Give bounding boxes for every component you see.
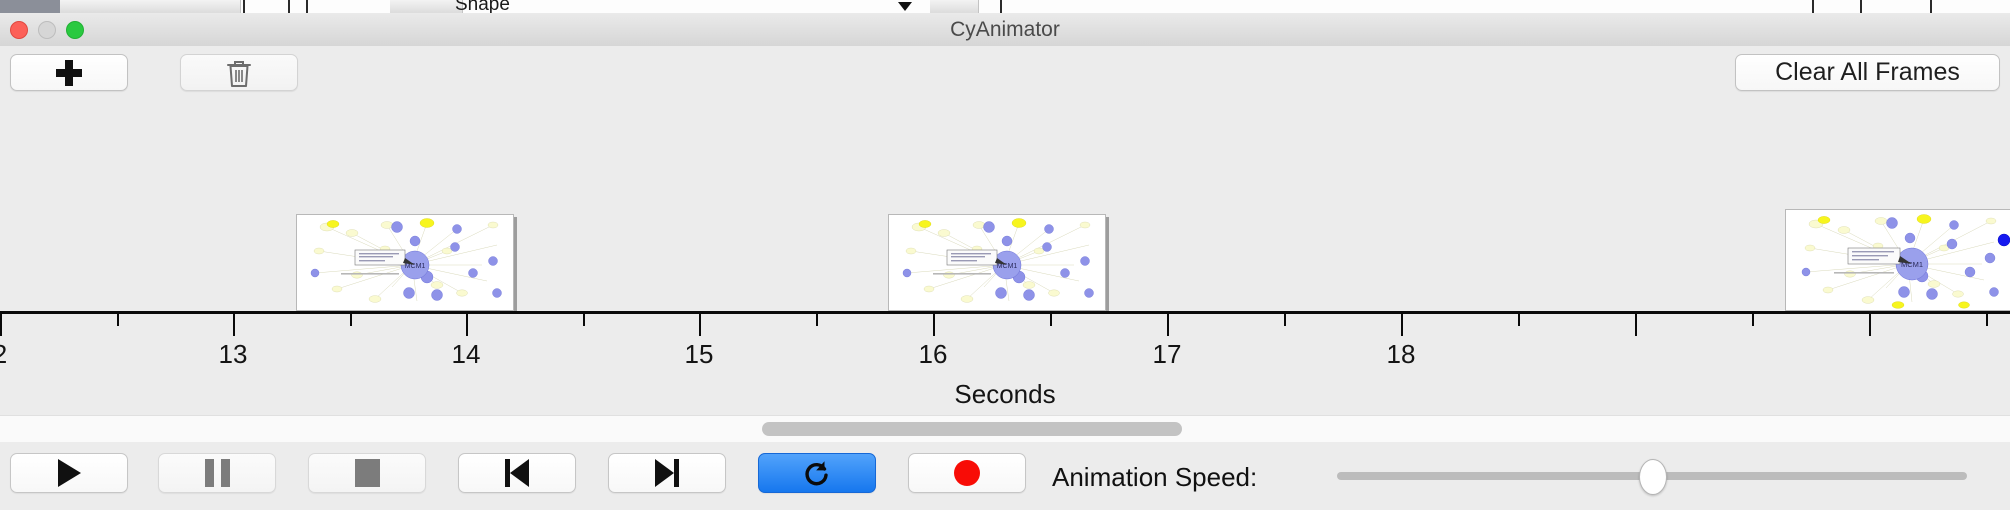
axis-tick [1869,314,1871,336]
axis-tick-label: 16 [919,339,948,370]
axis-tick-label: 13 [219,339,248,370]
axis-tick [1284,314,1286,326]
timeline-scrollbar-thumb[interactable] [762,422,1182,436]
frame-thumbnail-image: MCM1 [1785,209,2010,311]
cyanimator-window: Shape CyAnimator Clear All Frames [0,0,2010,510]
background-window-tick [243,0,245,13]
axis-tick [816,314,818,326]
loop-icon [802,458,832,488]
trash-icon [225,57,253,89]
axis-tick-label: 18 [1387,339,1416,370]
slider-thumb[interactable] [1639,459,1667,495]
background-window-segment [930,0,979,13]
axis-title: Seconds [0,379,2010,410]
axis-tick [233,314,235,336]
network-graph-preview: MCM1 [889,215,1105,310]
stop-button[interactable] [308,453,426,493]
skip-back-icon [505,459,529,487]
axis-tick [1518,314,1520,326]
background-window-tick [1812,0,1814,13]
background-window-segment [60,0,151,13]
previous-frame-button[interactable] [458,453,576,493]
frame-thumbnail[interactable]: MCM1 [296,214,514,311]
axis-tick [1986,314,1988,326]
record-icon [954,460,980,486]
clear-all-frames-label: Clear All Frames [1775,58,1960,87]
background-window-tick [288,0,290,13]
axis-tick [583,314,585,326]
play-icon [58,459,81,487]
pause-button[interactable] [158,453,276,493]
network-graph-preview: MCM1 [1786,210,2010,310]
timeline-scrollbar[interactable] [0,415,2010,443]
clear-all-frames-button[interactable]: Clear All Frames [1735,54,2000,91]
network-graph-preview: MCM1 [297,215,513,310]
axis-tick [933,314,935,336]
frames-toolbar: Clear All Frames [0,46,2010,99]
play-button[interactable] [10,453,128,493]
window-title: CyAnimator [0,13,2010,46]
background-window-segment [390,0,463,13]
background-window-label: Shape [455,0,510,14]
background-window-tick [306,0,308,13]
background-window-strip: Shape [0,0,2010,14]
axis-tick-label: 17 [1153,339,1182,370]
skip-forward-icon [655,459,679,487]
axis-tick [350,314,352,326]
loop-button[interactable] [758,453,876,493]
animation-speed-label: Animation Speed: [1052,462,1257,493]
plus-icon [56,60,82,86]
background-window-sidebar [0,0,60,13]
timeline-axis[interactable]: 2131415161718 Seconds [0,311,2010,415]
frame-thumbnail-image: MCM1 [296,214,514,311]
playback-control-bar: Animation Speed: [0,442,2010,510]
background-window-segment [190,0,241,13]
axis-tick [1635,314,1637,336]
next-frame-button[interactable] [608,453,726,493]
add-frame-button[interactable] [10,54,128,91]
pause-icon [205,459,230,487]
frame-thumbnail-image: MCM1 [888,214,1106,311]
frames-panel[interactable]: MCM1 [0,98,2010,311]
axis-tick [0,314,2,336]
axis-line [0,311,2010,314]
axis-tick [1752,314,1754,326]
delete-frame-button[interactable] [180,54,298,91]
svg-text:MCM1: MCM1 [997,263,1018,270]
title-bar[interactable]: CyAnimator [0,13,2010,47]
axis-tick-label: 2 [0,339,7,370]
axis-tick-label: 14 [452,339,481,370]
background-window-segment [150,0,191,13]
axis-tick-label: 15 [685,339,714,370]
axis-tick [1050,314,1052,326]
svg-text:MCM1: MCM1 [405,263,426,270]
background-window-tick [1930,0,1932,13]
axis-tick [699,314,701,336]
frame-thumbnail[interactable]: MCM1 [888,214,1106,311]
axis-tick [466,314,468,336]
frame-thumbnail[interactable]: MCM1 [1785,209,2010,311]
background-window-marker-icon [898,2,912,11]
background-window-tick [1000,0,1002,13]
background-window-tick [1860,0,1862,13]
axis-tick [117,314,119,326]
record-button[interactable] [908,453,1026,493]
axis-tick [1401,314,1403,336]
animation-speed-slider[interactable] [1337,472,1967,480]
stop-icon [355,459,380,487]
axis-tick [1167,314,1169,336]
